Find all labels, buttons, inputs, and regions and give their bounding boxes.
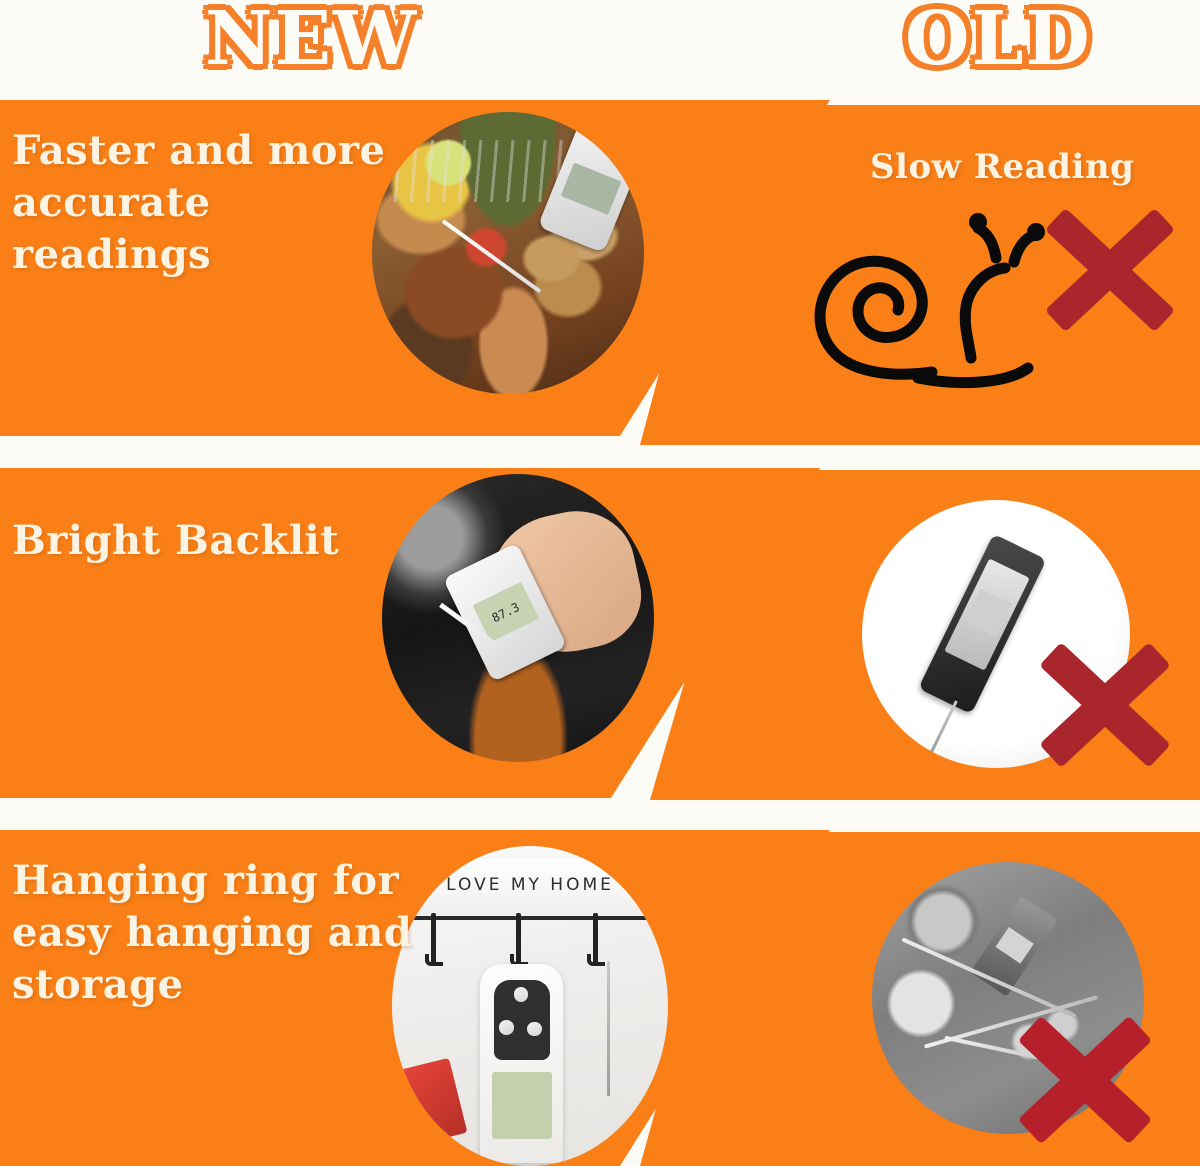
grill-thermometer-probe — [442, 220, 541, 294]
row-1-old-feature-text: Slow Reading — [870, 145, 1200, 189]
hanging-thermometer — [480, 964, 563, 1162]
row-3-x-mark-icon — [1005, 1000, 1165, 1160]
row-1-x-mark-icon — [1030, 190, 1190, 350]
thermometer-button — [514, 987, 529, 1002]
bbq-grill-with-thermometer-photo — [372, 112, 644, 394]
old-thermometer-probe — [930, 701, 959, 755]
old-thermometer-face — [944, 558, 1029, 670]
rack-hook — [593, 913, 598, 964]
header-old-title: OLD — [905, 0, 1092, 82]
rack-hook — [431, 913, 436, 964]
row-2-x-mark-icon — [1025, 625, 1185, 785]
header-new-title: NEW — [205, 0, 418, 82]
rack-hook — [516, 913, 521, 964]
grill-thermometer-body — [537, 117, 644, 253]
row-2-new-feature-text: Bright Backlit — [12, 515, 432, 567]
header: NEW OLD — [0, 0, 1200, 95]
old-thermometer-lcd — [964, 588, 1012, 637]
thermometer-lcd — [492, 1072, 552, 1139]
row-1-new-feature-text: Faster and more accurate readings — [12, 125, 412, 281]
row-3-new-feature-text: Hanging ring for easy hanging and storag… — [12, 855, 417, 1011]
drawer-thermometer — [970, 896, 1058, 997]
thermometer-button — [527, 1022, 542, 1037]
infographic-root: NEW OLD Faster and more accurate reading… — [0, 0, 1200, 1166]
hanging-rack-photo: LOVE MY HOME — [392, 846, 668, 1166]
rack-sign-text: LOVE MY HOME — [392, 875, 668, 895]
thermometer-button-pad — [494, 980, 550, 1059]
rack-hanging-wire — [607, 961, 610, 1095]
thermometer-button — [499, 1020, 514, 1035]
